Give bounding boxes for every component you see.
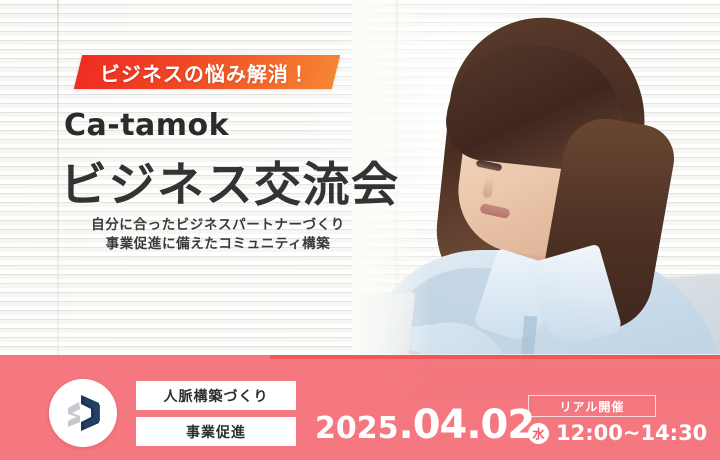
brand-name: Ca-tamok [64,108,229,143]
day-of-week-badge: 水 [528,423,549,444]
event-time: 12:00~14:30 [556,421,707,445]
tag-networking-label: 人脈構築づくり [164,386,269,406]
event-month-day: .04.02 [399,402,535,448]
event-time-row: 水 12:00~14:30 [528,421,707,445]
event-year: 2025 [315,411,399,446]
format-badge: リアル開催 [528,395,656,417]
logo-badge [49,379,117,447]
subtitle-line-2: 事業促進に備えたコミュニティ構築 [68,234,368,253]
tag-business-promotion-label: 事業促進 [186,422,246,442]
page-title: ビジネス交流会 [60,146,400,215]
tagline-ribbon: ビジネスの悩み解消！ [74,55,340,89]
format-badge-label: リアル開催 [560,398,625,415]
band-accent-line [270,355,720,359]
tagline-text: ビジネスの悩み解消！ [100,58,310,87]
event-poster: ビジネスの悩み解消！ Ca-tamok ビジネス交流会 自分に合ったビジネスパー… [0,0,720,460]
ca-tamok-logo-icon [59,389,107,437]
subtitle-line-1: 自分に合ったビジネスパートナーづくり [68,215,368,234]
woman-at-laptop-photo [352,0,720,400]
tag-networking: 人脈構築づくり [136,381,296,410]
subtitle-block: 自分に合ったビジネスパートナーづくり 事業促進に備えたコミュニティ構築 [68,215,368,253]
event-date: 2025 .04.02 [315,402,534,448]
tag-business-promotion: 事業促進 [136,417,296,446]
